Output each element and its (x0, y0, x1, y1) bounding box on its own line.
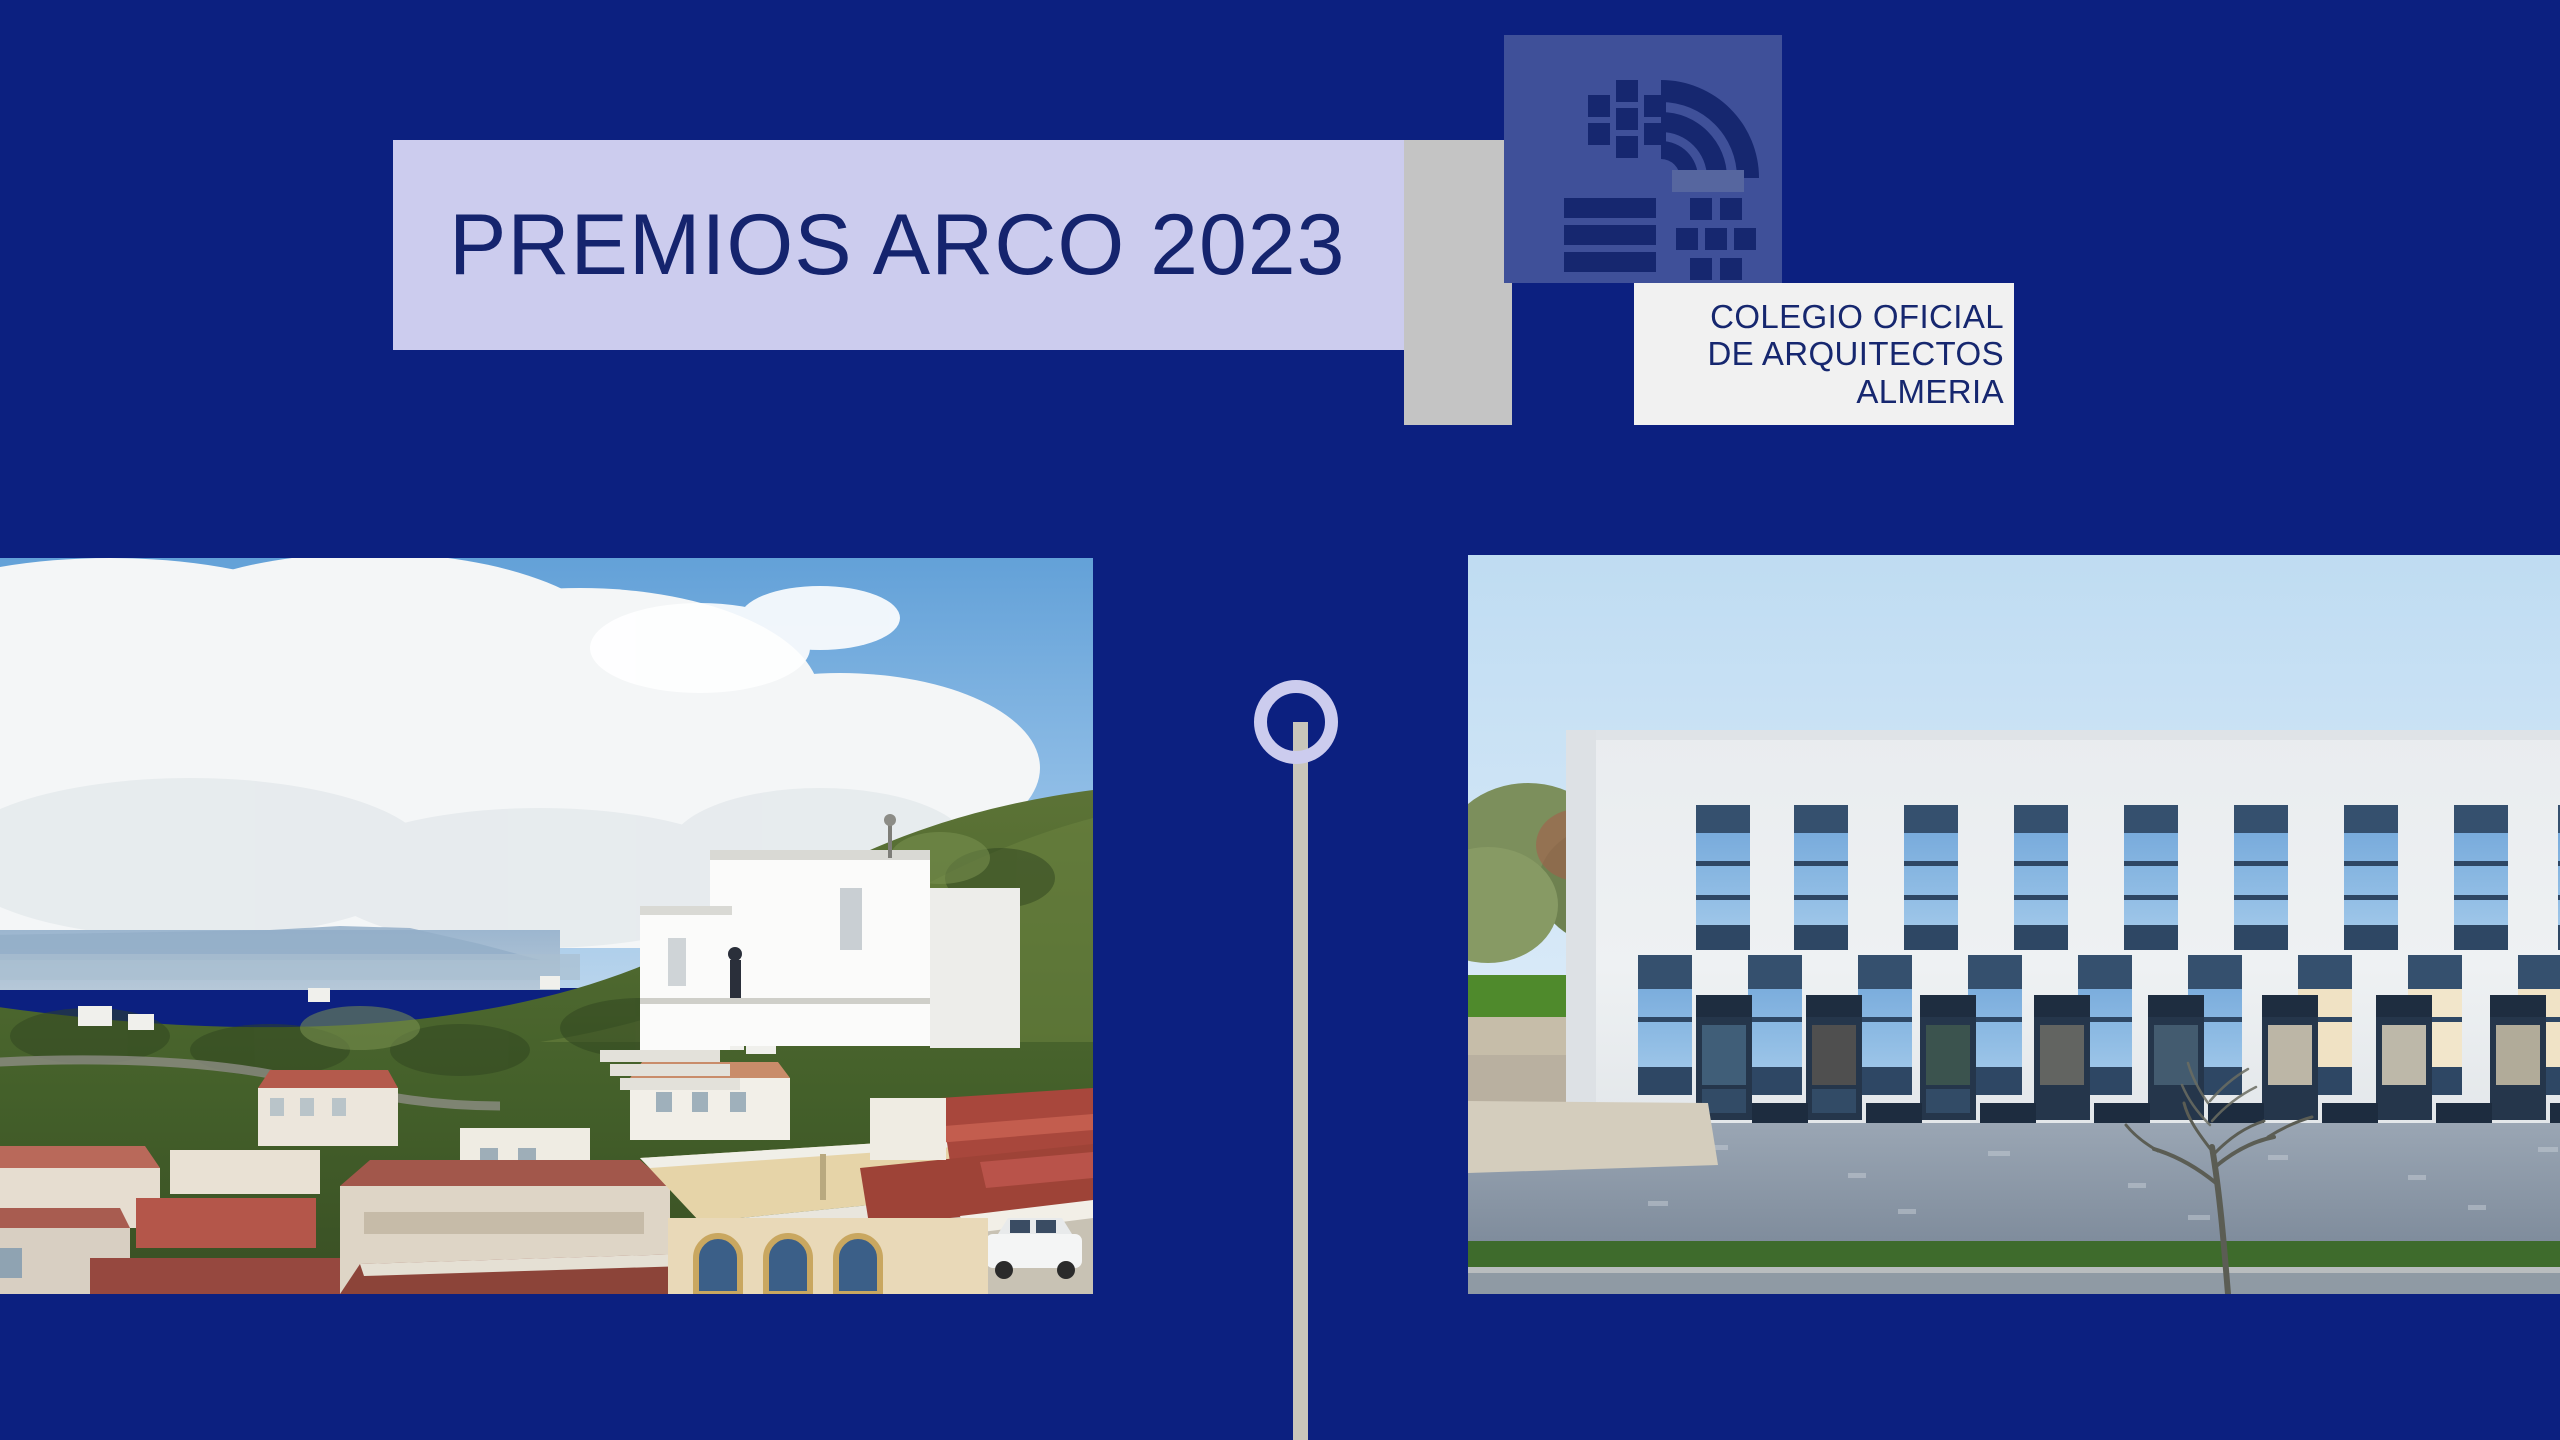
logo-emblem-block (1504, 35, 1782, 283)
colegio-arquitectos-emblem-icon (1504, 35, 1782, 283)
page-title: PREMIOS ARCO 2023 (449, 202, 1345, 288)
presentation-slide: PREMIOS ARCO 2023 (0, 0, 2560, 1440)
logo-line-1: COLEGIO OFICIAL (1710, 298, 2004, 336)
title-band: PREMIOS ARCO 2023 (393, 140, 1404, 350)
logo-line-3: ALMERIA (1856, 373, 2004, 411)
photo-hillside-village (0, 558, 1093, 1294)
logo-line-2: DE ARQUITECTOS (1707, 335, 2004, 373)
gray-accent-block (1404, 140, 1512, 425)
photo-white-building-facade (1468, 555, 2560, 1294)
timeline-line (1293, 722, 1308, 1440)
timeline-ring (1254, 680, 1338, 764)
logo-text-block: COLEGIO OFICIAL DE ARQUITECTOS ALMERIA (1634, 283, 2014, 425)
